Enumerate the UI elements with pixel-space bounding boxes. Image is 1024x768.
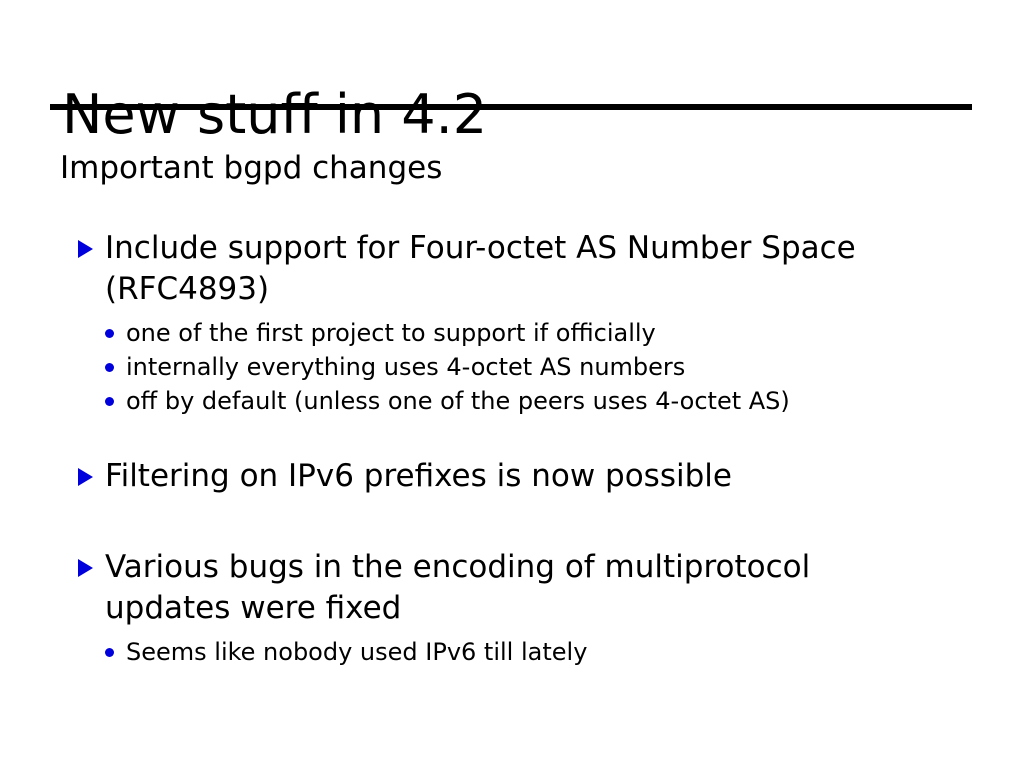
- bullet-text: off by default (unless one of the peers …: [126, 387, 790, 415]
- bullet-list: Include support for Four-octet AS Number…: [0, 228, 1024, 669]
- spacer: [0, 497, 1024, 547]
- round-dot-bullet-icon: [105, 397, 114, 406]
- triangle-right-bullet-icon: [78, 240, 93, 258]
- bullet-item-level1: Include support for Four-octet AS Number…: [0, 228, 1024, 310]
- bullet-text: Filtering on IPv6 prefixes is now possib…: [105, 456, 905, 497]
- bullet-item-level2: Seems like nobody used IPv6 till lately: [0, 635, 1024, 669]
- bullet-item-level1: Various bugs in the encoding of multipro…: [0, 547, 1024, 629]
- round-dot-bullet-icon: [105, 329, 114, 338]
- triangle-right-bullet-icon: [78, 559, 93, 577]
- bullet-item-level2: one of the first project to support if o…: [0, 316, 1024, 350]
- triangle-right-bullet-icon: [78, 468, 93, 486]
- bullet-text: one of the first project to support if o…: [126, 319, 656, 347]
- lead-text: Important bgpd changes: [60, 148, 442, 188]
- round-dot-bullet-icon: [105, 648, 114, 657]
- round-dot-bullet-icon: [105, 363, 114, 372]
- bullet-text: Seems like nobody used IPv6 till lately: [126, 638, 587, 666]
- bullet-item-level2: internally everything uses 4-octet AS nu…: [0, 350, 1024, 384]
- bullet-text: Include support for Four-octet AS Number…: [105, 228, 905, 310]
- slide-body: Important bgpd changes Include support f…: [0, 0, 1024, 768]
- bullet-text: Various bugs in the encoding of multipro…: [105, 547, 905, 629]
- bullet-text: internally everything uses 4-octet AS nu…: [126, 353, 685, 381]
- bullet-item-level1: Filtering on IPv6 prefixes is now possib…: [0, 456, 1024, 497]
- bullet-item-level2: off by default (unless one of the peers …: [0, 384, 1024, 418]
- presentation-slide: New stuff in 4.2 Important bgpd changes …: [0, 0, 1024, 768]
- spacer: [0, 418, 1024, 456]
